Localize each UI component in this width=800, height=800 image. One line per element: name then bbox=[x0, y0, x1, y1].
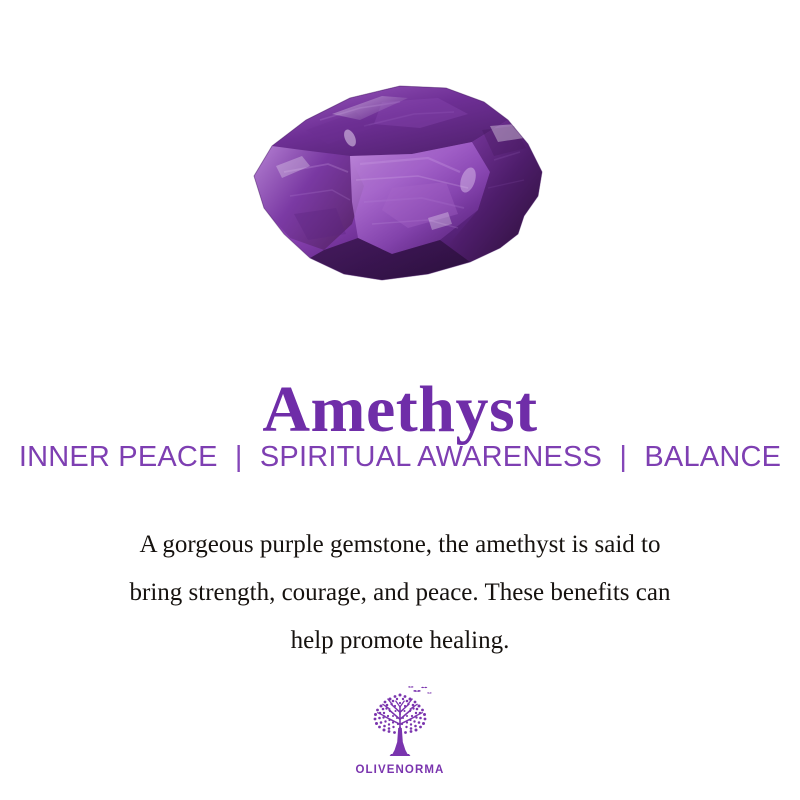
amethyst-product-card: Amethyst INNER PEACE | SPIRITUAL AWARENE… bbox=[0, 0, 800, 800]
description-line: help promote healing. bbox=[50, 617, 750, 665]
keyword-spiritual-awareness: SPIRITUAL AWARENESS bbox=[260, 441, 602, 473]
description-line: A gorgeous purple gemstone, the amethyst… bbox=[50, 521, 750, 569]
brand-logo: OLIVENORMA bbox=[0, 684, 800, 776]
keyword-balance: BALANCE bbox=[644, 441, 781, 473]
keyword-separator: | bbox=[226, 442, 252, 474]
description-text: A gorgeous purple gemstone, the amethyst… bbox=[50, 521, 750, 665]
amethyst-gemstone-icon bbox=[232, 68, 562, 303]
description-line: bring strength, courage, and peace. Thes… bbox=[50, 569, 750, 617]
keyword-inner-peace: INNER PEACE bbox=[19, 441, 218, 473]
keyword-separator: | bbox=[610, 442, 636, 474]
page-title: Amethyst bbox=[0, 377, 800, 443]
keyword-row: INNER PEACE | SPIRITUAL AWARENESS | BALA… bbox=[0, 442, 800, 474]
tree-of-life-icon bbox=[357, 684, 443, 762]
brand-name: OLIVENORMA bbox=[356, 764, 445, 776]
birds-icon bbox=[408, 686, 432, 693]
hero-image-area bbox=[0, 0, 800, 320]
